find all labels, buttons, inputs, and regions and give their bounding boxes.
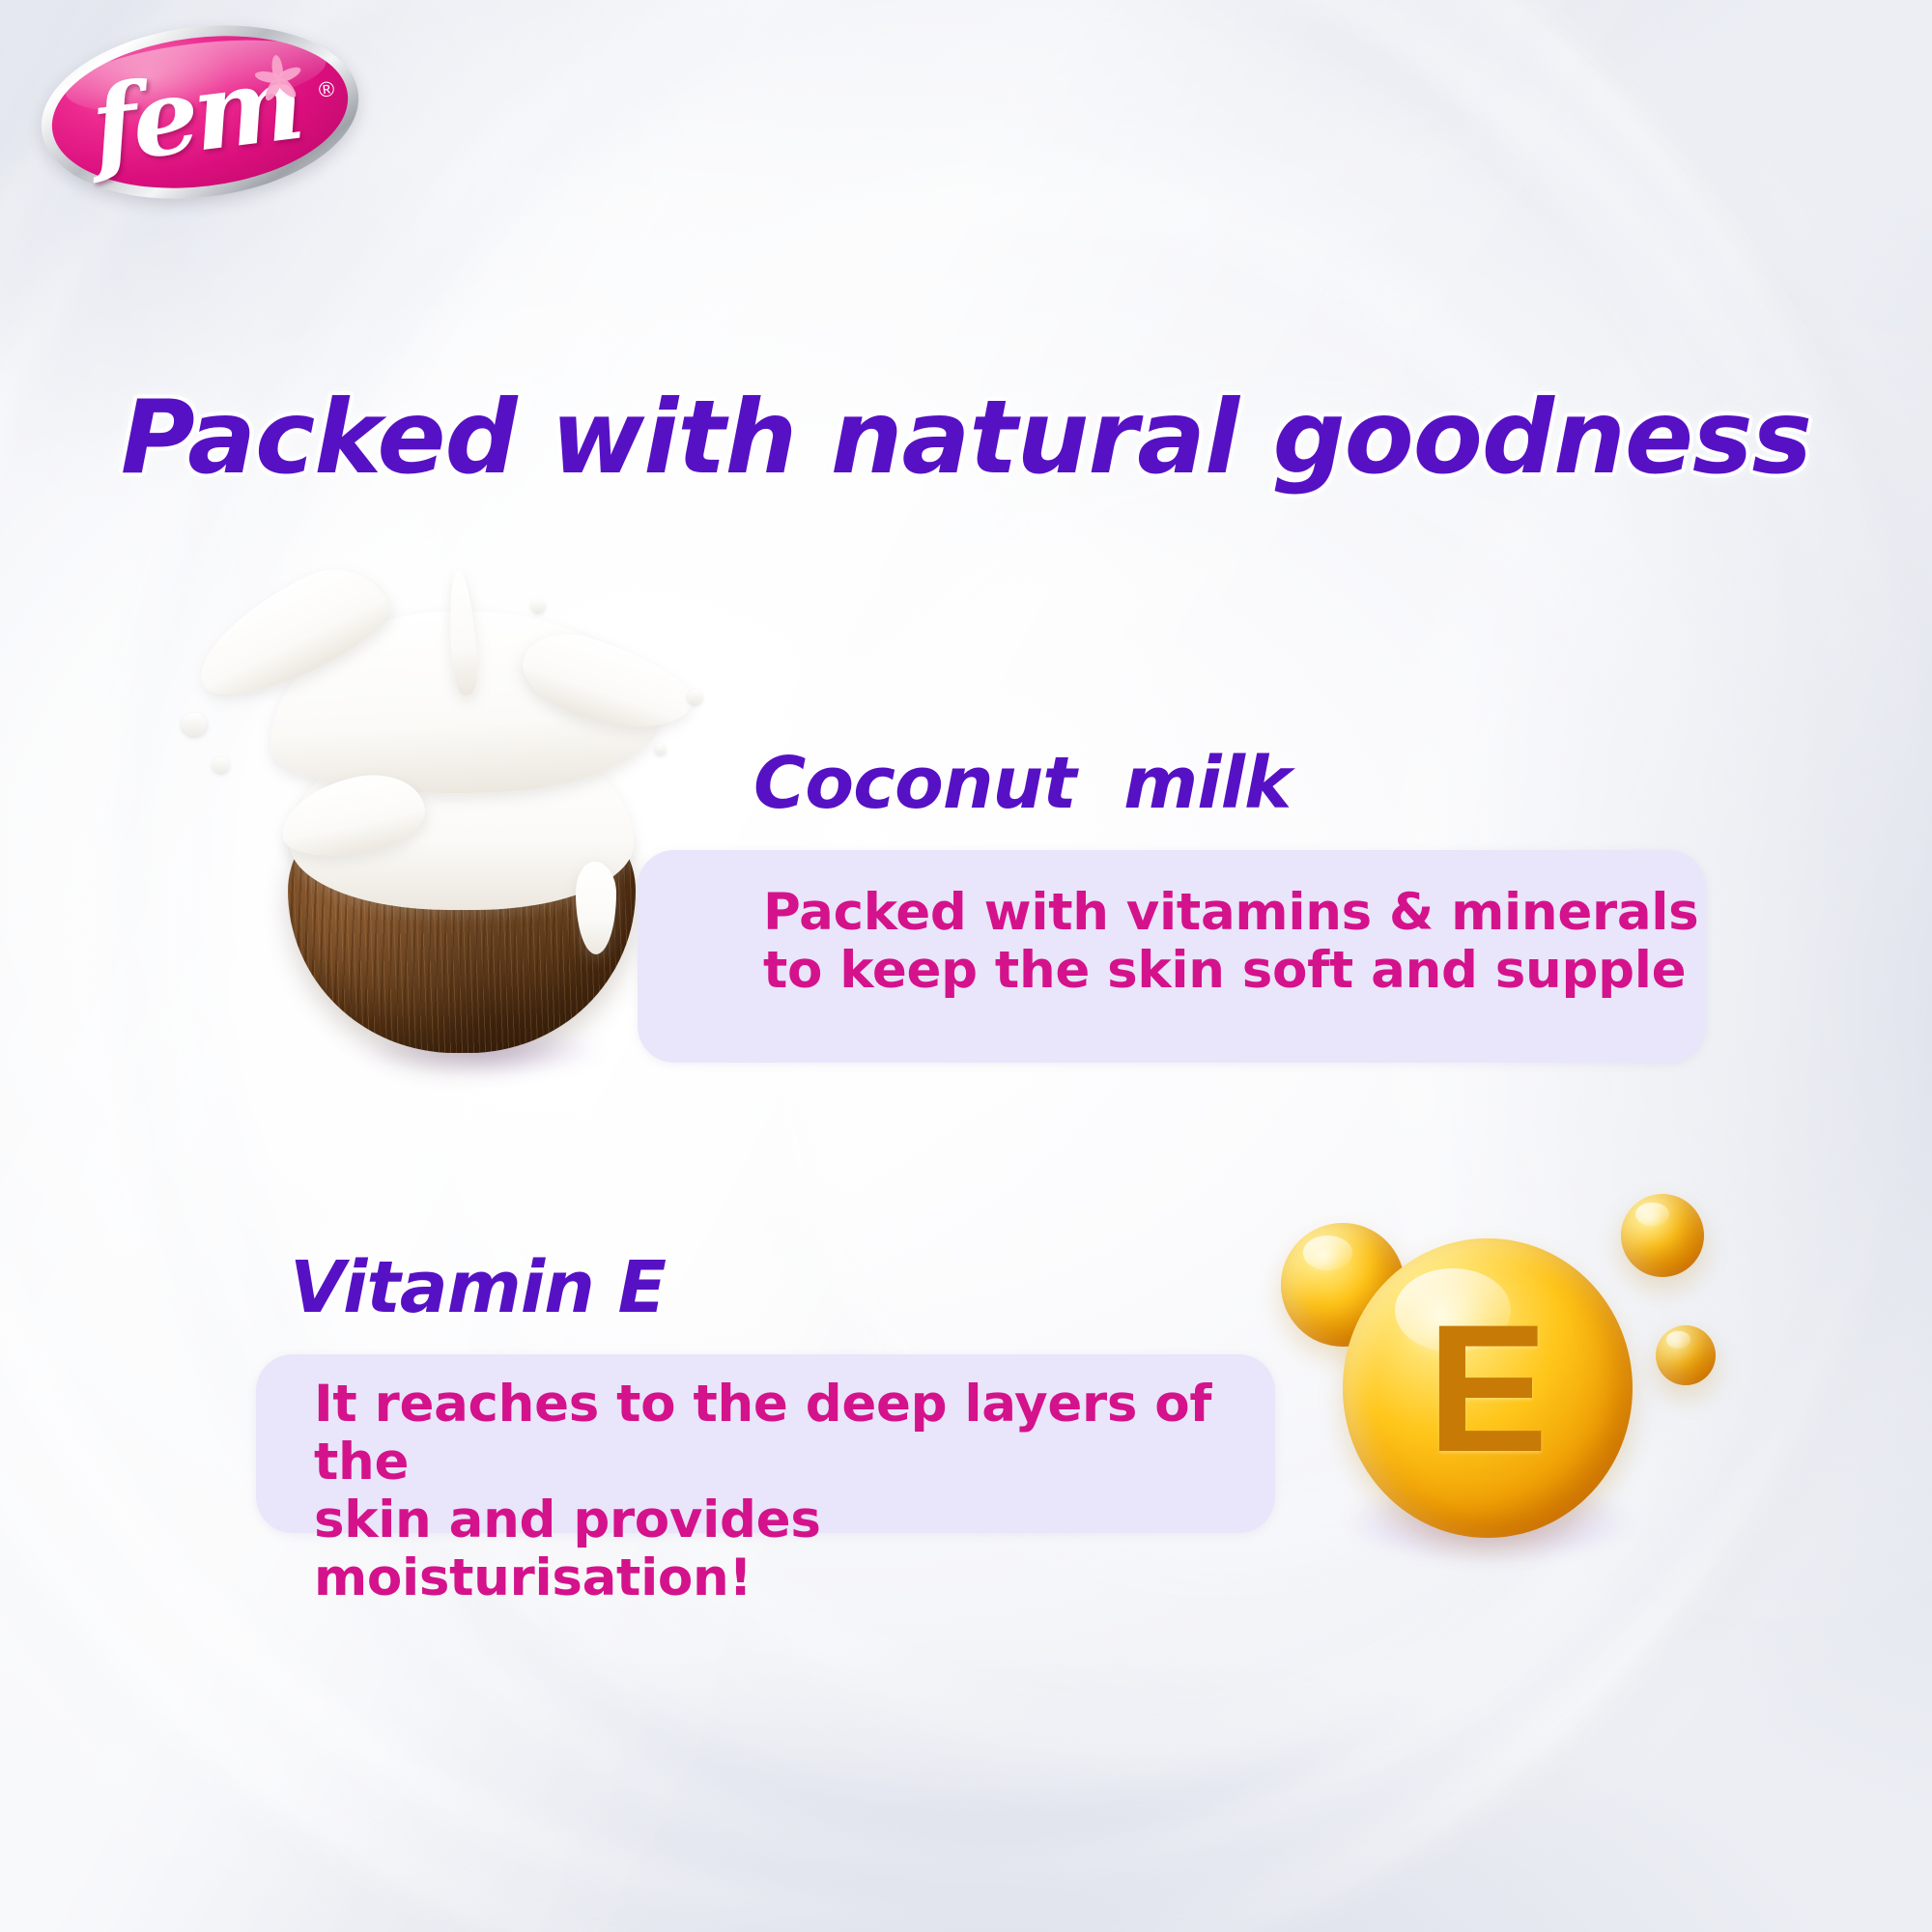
ingredient-title-coconut-milk: Coconut milk	[753, 742, 1291, 825]
milk-droplet	[655, 744, 666, 754]
product-benefits-poster: fem ® Packed with natural goodness	[0, 0, 1932, 1932]
page-title: Packed with natural goodness	[0, 379, 1932, 497]
milk-droplet	[213, 757, 229, 773]
ingredient-description-vitamin-e: It reaches to the deep layers of the ski…	[256, 1354, 1275, 1607]
vitamin-e-droplet-image: E	[1246, 1188, 1748, 1575]
ingredient-title-vitamin-e: Vitamin E	[290, 1246, 666, 1329]
flower-icon	[250, 51, 306, 107]
logo-wordmark: fem	[32, 9, 369, 216]
milk-droplet	[531, 599, 545, 612]
ingredient-panel-coconut-milk: Packed with vitamins & minerals to keep …	[638, 850, 1705, 1063]
ingredient-description-coconut-milk: Packed with vitamins & minerals to keep …	[638, 850, 1705, 1000]
registered-trademark-icon: ®	[317, 76, 335, 103]
fem-brand-logo: fem ®	[41, 27, 359, 197]
milk-droplet	[182, 713, 207, 736]
oil-bubble-small	[1656, 1325, 1716, 1385]
ingredient-panel-vitamin-e: It reaches to the deep layers of the ski…	[256, 1354, 1275, 1533]
milk-droplet	[688, 690, 702, 704]
vitamin-letter-label: E	[1343, 1238, 1633, 1538]
oil-bubble-small	[1621, 1194, 1704, 1277]
